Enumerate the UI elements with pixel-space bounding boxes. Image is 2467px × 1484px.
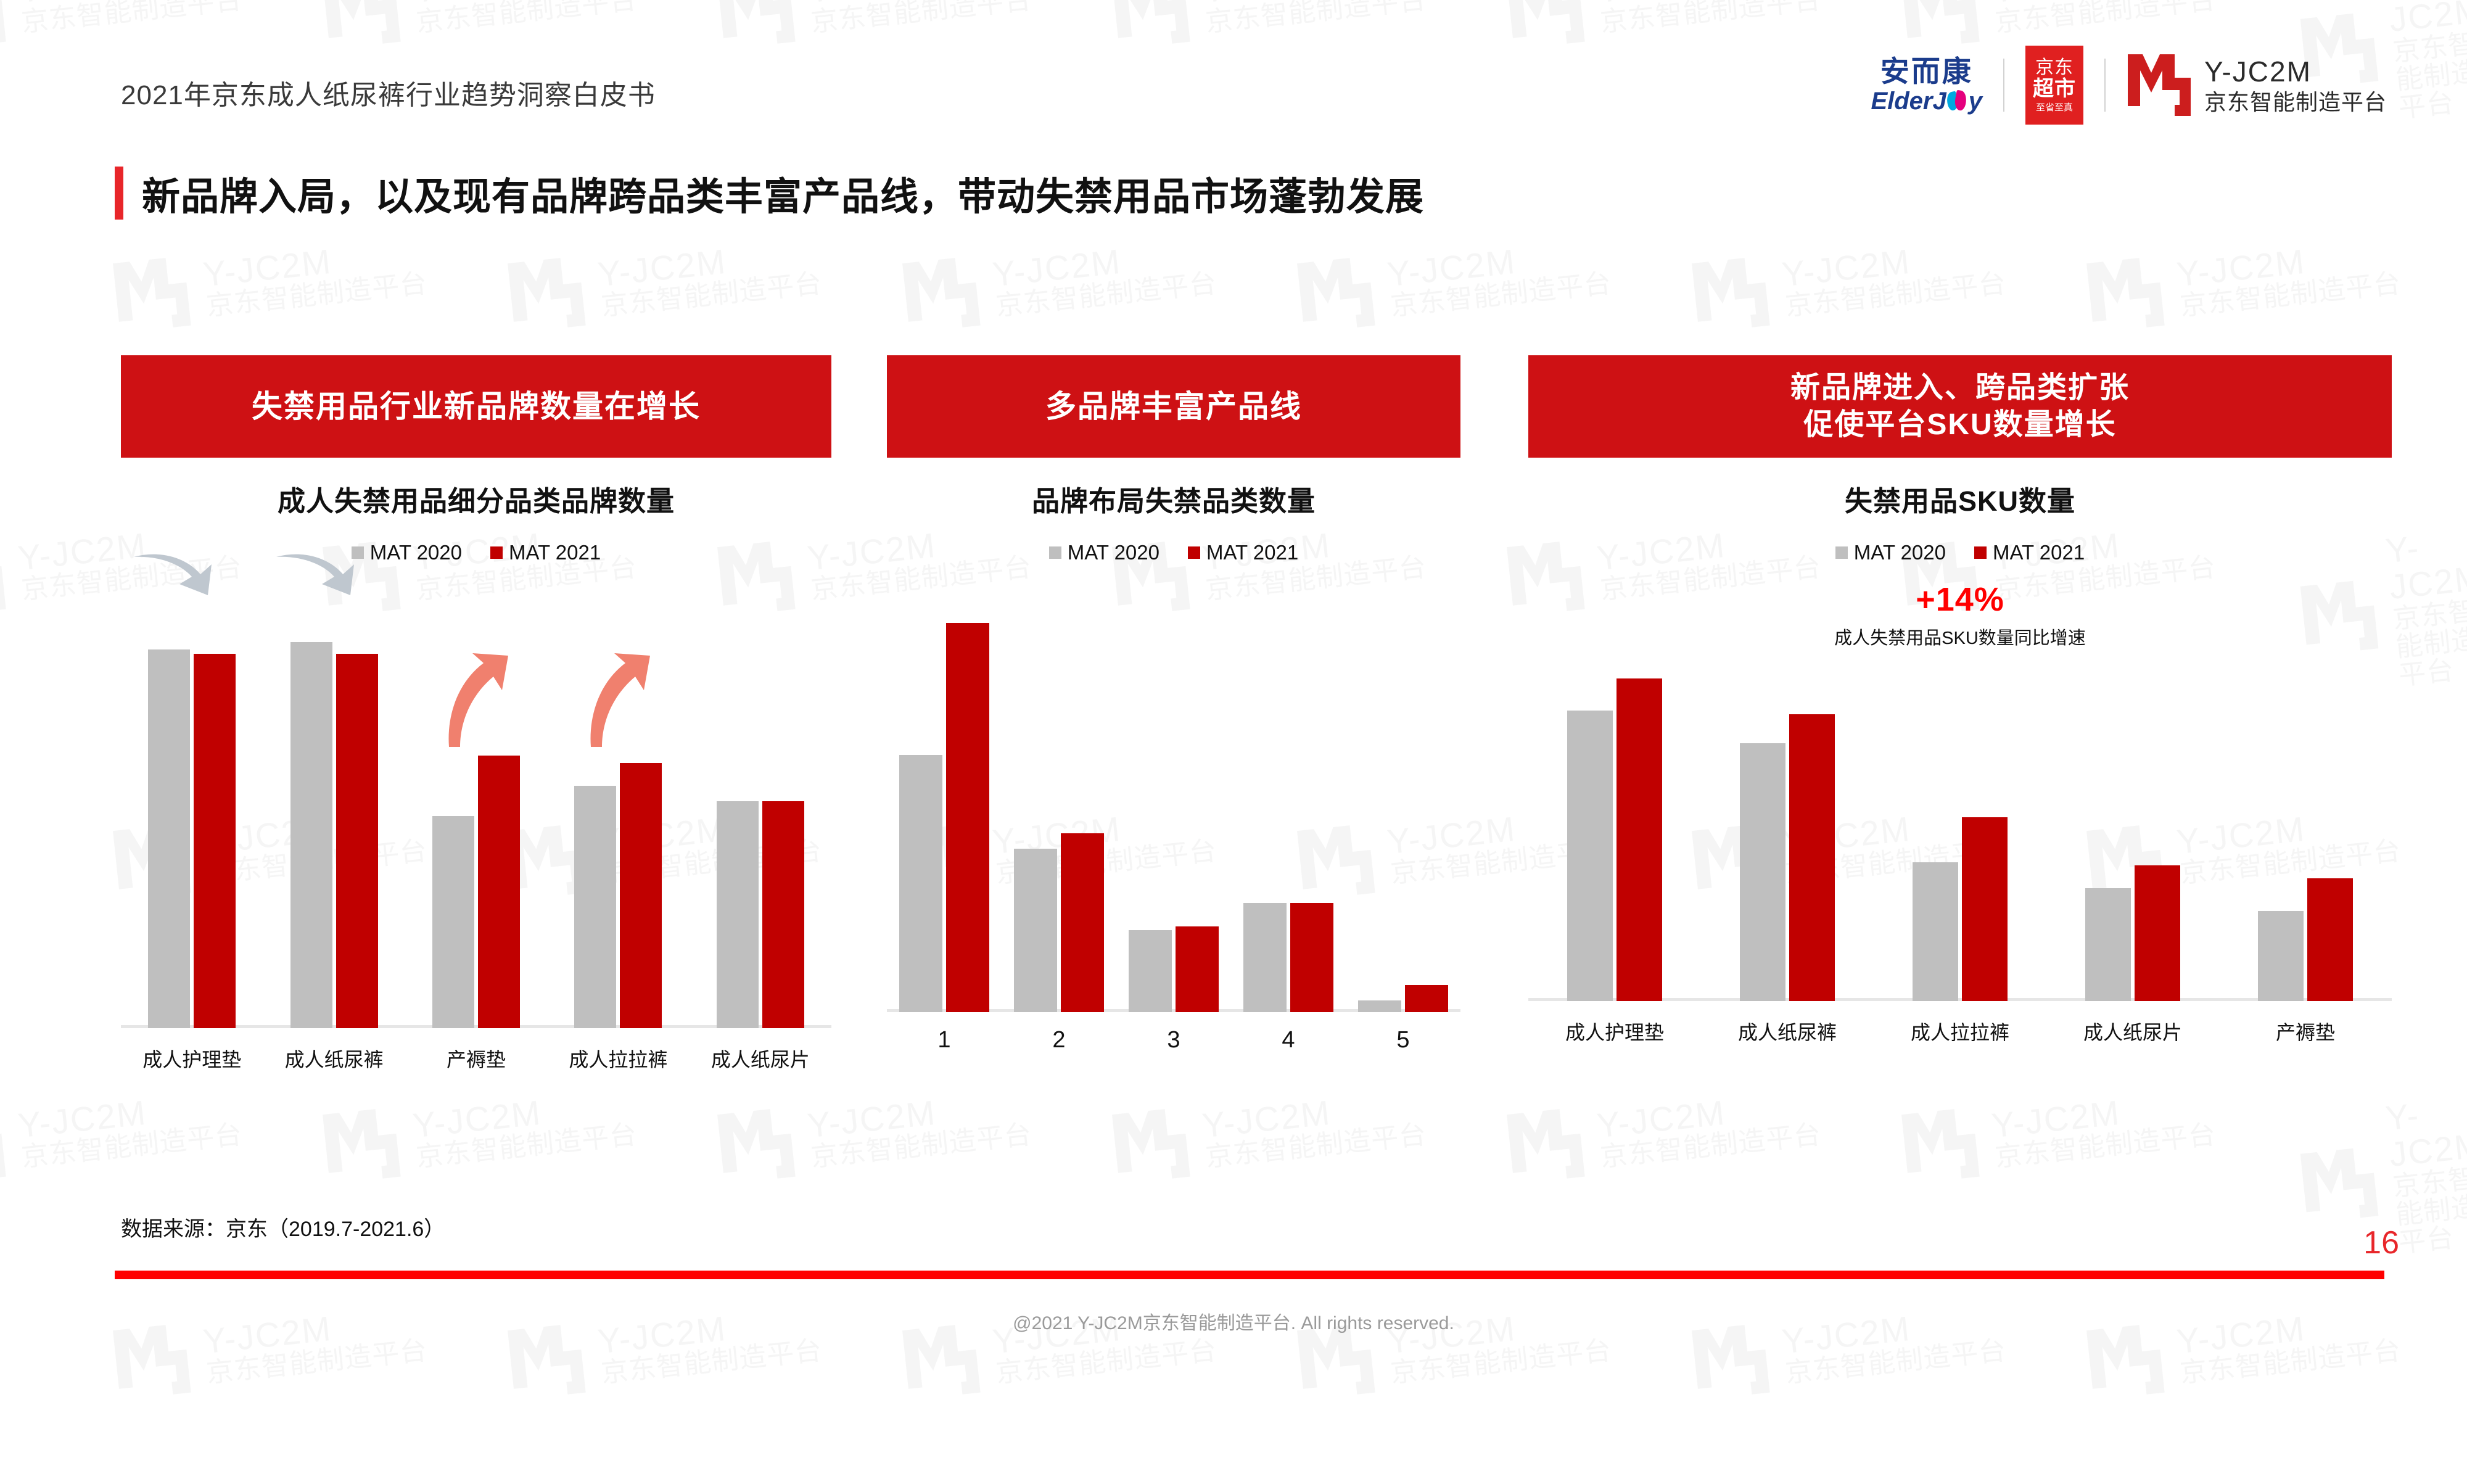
- elderjoy-en-pre: Elder: [1871, 89, 1932, 113]
- elderjoy-logo-cn: 安而康: [1880, 57, 1973, 86]
- bar-mat2020: [2258, 911, 2304, 1001]
- legend-swatch-gray-icon: [1835, 546, 1848, 559]
- legend-item-mat2021: MAT 2021: [1188, 541, 1298, 564]
- slide-title-row: 新品牌入局，以及现有品牌跨品类丰富产品线，带动失禁用品市场蓬勃发展: [115, 165, 1424, 221]
- bar-mat2021: [1789, 714, 1835, 1001]
- column-sku-count: 新品牌进入、跨品类扩张 促使平台SKU数量增长 失禁用品SKU数量 MAT 20…: [1528, 355, 2392, 1045]
- bar-group: [121, 609, 263, 1028]
- bar-mat2020: [148, 649, 190, 1028]
- bar-group: [690, 609, 831, 1028]
- legend-label-mat2020: MAT 2020: [370, 541, 462, 564]
- jd-supermarket-logo: 京东 超市 至省至真: [2025, 46, 2083, 125]
- copyright-notice: @2021 Y-JC2M京东智能制造平台. All rights reserve…: [0, 1308, 2467, 1335]
- legend-label-mat2021: MAT 2021: [1206, 541, 1298, 564]
- page-number: 16: [2363, 1224, 2399, 1261]
- jd-super-line2: 超市: [2033, 78, 2076, 99]
- watermark-tile: Y-JC2M京东智能制造平台: [321, 1078, 640, 1189]
- legend-item-mat2020: MAT 2020: [352, 541, 462, 564]
- chart-2-category-labels: 12345: [887, 1027, 1460, 1053]
- legend-swatch-red-icon: [1974, 546, 1987, 559]
- logo-divider-2: [2104, 59, 2106, 112]
- chart-1-plot: [121, 609, 831, 1028]
- chart-2-plot: [887, 600, 1460, 1012]
- chart-3-plot: [1528, 659, 2392, 1001]
- category-label: 产褥垫: [2219, 1017, 2392, 1045]
- column1-banner-text: 失禁用品行业新品牌数量在增长: [252, 387, 701, 426]
- column-category-breadth: 多品牌丰富产品线 品牌布局失禁品类数量 MAT 2020 MAT 2021 12…: [887, 355, 1460, 1053]
- watermark-tile: Y-JC2M京东智能制造平台: [900, 226, 1219, 337]
- chart-3-category-labels: 成人护理垫成人纸尿裤成人拉拉裤成人纸尿片产褥垫: [1528, 1017, 2392, 1045]
- yjc2m-mark-icon: [2127, 51, 2192, 120]
- decline-down-arrow-icon: [130, 547, 223, 606]
- chart-1-category-labels: 成人护理垫成人纸尿裤产褥垫成人拉拉裤成人纸尿片: [121, 1044, 831, 1073]
- bar-mat2020: [290, 642, 332, 1028]
- bar-mat2021: [2307, 878, 2353, 1001]
- legend-label-mat2021: MAT 2021: [1993, 541, 2085, 564]
- watermark-tile: Y-JC2M京东智能制造平台: [1505, 0, 1824, 54]
- category-label: 4: [1231, 1027, 1346, 1053]
- category-label: 成人纸尿片: [2046, 1017, 2219, 1045]
- column3-banner: 新品牌进入、跨品类扩张 促使平台SKU数量增长: [1528, 355, 2392, 458]
- bar-group: [1231, 600, 1346, 1012]
- category-label: 成人纸尿裤: [263, 1044, 405, 1073]
- legend-label-mat2020: MAT 2020: [1854, 541, 1946, 564]
- legend-swatch-red-icon: [1188, 546, 1200, 559]
- logo-bar: 安而康 ElderJy 京东 超市 至省至真 Y-JC2M 京东智能制造平台: [1871, 48, 2387, 122]
- growth-percentage: +14%: [1528, 580, 2392, 619]
- watermark-tile: Y-JC2M京东智能制造平台: [0, 1078, 245, 1189]
- yjc2m-logo-line1: Y-JC2M: [2204, 56, 2387, 88]
- column3-legend: MAT 2020 MAT 2021: [1528, 541, 2392, 564]
- watermark-tile: Y-JC2M京东智能制造平台: [715, 1078, 1034, 1189]
- bar-mat2020: [1014, 849, 1057, 1012]
- jd-super-line3: 至省至真: [2036, 103, 2073, 112]
- bar-mat2021: [1176, 926, 1219, 1012]
- bar-mat2021: [1405, 985, 1448, 1012]
- category-label: 2: [1002, 1027, 1116, 1053]
- watermark-tile: Y-JC2M京东智能制造平台: [1110, 0, 1429, 54]
- watermark-tile: Y-JC2M京东智能制造平台: [1690, 226, 2009, 337]
- watermark-tile: Y-JC2M京东智能制造平台: [1110, 1078, 1429, 1189]
- bar-mat2020: [1567, 711, 1613, 1001]
- watermark-tile: Y-JC2M京东智能制造平台: [2085, 226, 2403, 337]
- column3-subtitle: 失禁用品SKU数量: [1528, 479, 2392, 519]
- column2-legend: MAT 2020 MAT 2021: [887, 541, 1460, 564]
- bar-group: [887, 600, 1002, 1012]
- bar-mat2020: [1129, 930, 1172, 1012]
- bar-mat2020: [717, 801, 759, 1028]
- bar-mat2020: [1740, 743, 1785, 1001]
- bar-mat2021: [2135, 865, 2180, 1001]
- bar-mat2020: [1358, 1000, 1401, 1012]
- bar-group: [1701, 659, 1874, 1001]
- elderjoy-logo: 安而康 ElderJy: [1871, 57, 1982, 113]
- growth-caption: 成人失禁用品SKU数量同比增速: [1528, 624, 2392, 649]
- column2-banner-text: 多品牌丰富产品线: [1045, 387, 1302, 426]
- bar-mat2021: [762, 801, 804, 1028]
- category-label: 成人拉拉裤: [547, 1044, 689, 1073]
- category-label: 成人纸尿裤: [1701, 1017, 1874, 1045]
- watermark-tile: Y-JC2M京东智能制造平台: [715, 0, 1034, 54]
- column1-banner: 失禁用品行业新品牌数量在增长: [121, 355, 831, 458]
- legend-swatch-gray-icon: [1049, 546, 1061, 559]
- category-label: 成人拉拉裤: [1874, 1017, 2046, 1045]
- bar-mat2021: [1061, 833, 1104, 1012]
- category-label: 1: [887, 1027, 1002, 1053]
- category-label: 产褥垫: [405, 1044, 547, 1073]
- decline-down-arrow-icon: [273, 547, 365, 606]
- column-brand-count: 失禁用品行业新品牌数量在增长 成人失禁用品细分品类品牌数量 MAT 2020 M…: [121, 355, 831, 1073]
- legend-swatch-red-icon: [490, 546, 503, 559]
- legend-item-mat2021: MAT 2021: [490, 541, 601, 564]
- category-label: 成人护理垫: [121, 1044, 263, 1073]
- document-title: 2021年京东成人纸尿裤行业趋势洞察白皮书: [121, 73, 656, 112]
- legend-label-mat2020: MAT 2020: [1068, 541, 1159, 564]
- legend-item-mat2020: MAT 2020: [1835, 541, 1946, 564]
- legend-item-mat2021: MAT 2021: [1974, 541, 2085, 564]
- title-accent-bar: [115, 167, 123, 220]
- bar-mat2021: [336, 654, 378, 1029]
- column3-banner-line2: 促使平台SKU数量增长: [1803, 406, 2116, 443]
- bar-group: [263, 609, 405, 1028]
- slide-title: 新品牌入局，以及现有品牌跨品类丰富产品线，带动失禁用品市场蓬勃发展: [142, 165, 1424, 221]
- elderjoy-logo-en: ElderJy: [1871, 89, 1982, 113]
- growth-up-arrow-icon: [582, 647, 656, 755]
- watermark-tile: Y-JC2M京东智能制造平台: [1505, 1078, 1824, 1189]
- watermark-tile: Y-JC2M京东智能制造平台: [111, 226, 430, 337]
- bar-group: [1874, 659, 2046, 1001]
- bar-group: [1002, 600, 1116, 1012]
- bar-mat2021: [1290, 903, 1333, 1012]
- bar-mat2020: [2085, 888, 2131, 1001]
- bar-mat2021: [1617, 678, 1662, 1001]
- bar-mat2020: [574, 786, 616, 1028]
- elderjoy-droplet-icon: [1947, 91, 1968, 112]
- logo-divider-1: [2003, 59, 2004, 112]
- yjc2m-logo-line2: 京东智能制造平台: [2204, 90, 2387, 115]
- bar-mat2021: [946, 623, 989, 1012]
- watermark-tile: Y-JC2M京东智能制造平台: [506, 226, 825, 337]
- legend-label-mat2021: MAT 2021: [509, 541, 601, 564]
- footer-rule: [115, 1271, 2384, 1279]
- bar-mat2021: [194, 654, 236, 1029]
- watermark-tile: Y-JC2M京东智能制造平台: [321, 0, 640, 54]
- growth-annotation: +14% 成人失禁用品SKU数量同比增速: [1528, 580, 2392, 654]
- bar-mat2020: [1913, 862, 1958, 1001]
- bar-group: [1528, 659, 1701, 1001]
- elderjoy-en-post: y: [1969, 89, 1982, 113]
- column1-subtitle: 成人失禁用品细分品类品牌数量: [121, 479, 831, 519]
- category-label: 3: [1116, 1027, 1231, 1053]
- bar-mat2020: [899, 755, 942, 1012]
- bar-mat2020: [432, 816, 474, 1028]
- bar-group: [1116, 600, 1231, 1012]
- watermark-tile: Y-JC2M京东智能制造平台: [1900, 1078, 2218, 1189]
- bar-mat2021: [620, 763, 662, 1028]
- column2-banner: 多品牌丰富产品线: [887, 355, 1460, 458]
- legend-item-mat2020: MAT 2020: [1049, 541, 1159, 564]
- growth-up-arrow-icon: [440, 647, 514, 755]
- bar-group: [2219, 659, 2392, 1001]
- column2-subtitle: 品牌布局失禁品类数量: [887, 479, 1460, 519]
- bar-group: [2046, 659, 2219, 1001]
- category-label: 成人护理垫: [1528, 1017, 1701, 1045]
- watermark-tile: Y-JC2M京东智能制造平台: [0, 0, 245, 54]
- data-source-note: 数据来源：京东（2019.7-2021.6）: [121, 1212, 445, 1242]
- bar-mat2021: [478, 756, 520, 1028]
- column3-banner-line1: 新品牌进入、跨品类扩张: [1790, 369, 2130, 406]
- watermark-tile: Y-JC2M京东智能制造平台: [1295, 226, 1614, 337]
- column1-legend: MAT 2020 MAT 2021: [121, 541, 831, 564]
- yjc2m-logo: Y-JC2M 京东智能制造平台: [2127, 51, 2387, 120]
- category-label: 5: [1346, 1027, 1460, 1053]
- elderjoy-en-j: J: [1932, 89, 1946, 113]
- category-label: 成人纸尿片: [690, 1044, 831, 1073]
- bar-group: [1346, 600, 1460, 1012]
- bar-mat2020: [1243, 903, 1287, 1012]
- bar-mat2021: [1962, 817, 2008, 1001]
- jd-super-line1: 京东: [2035, 59, 2074, 77]
